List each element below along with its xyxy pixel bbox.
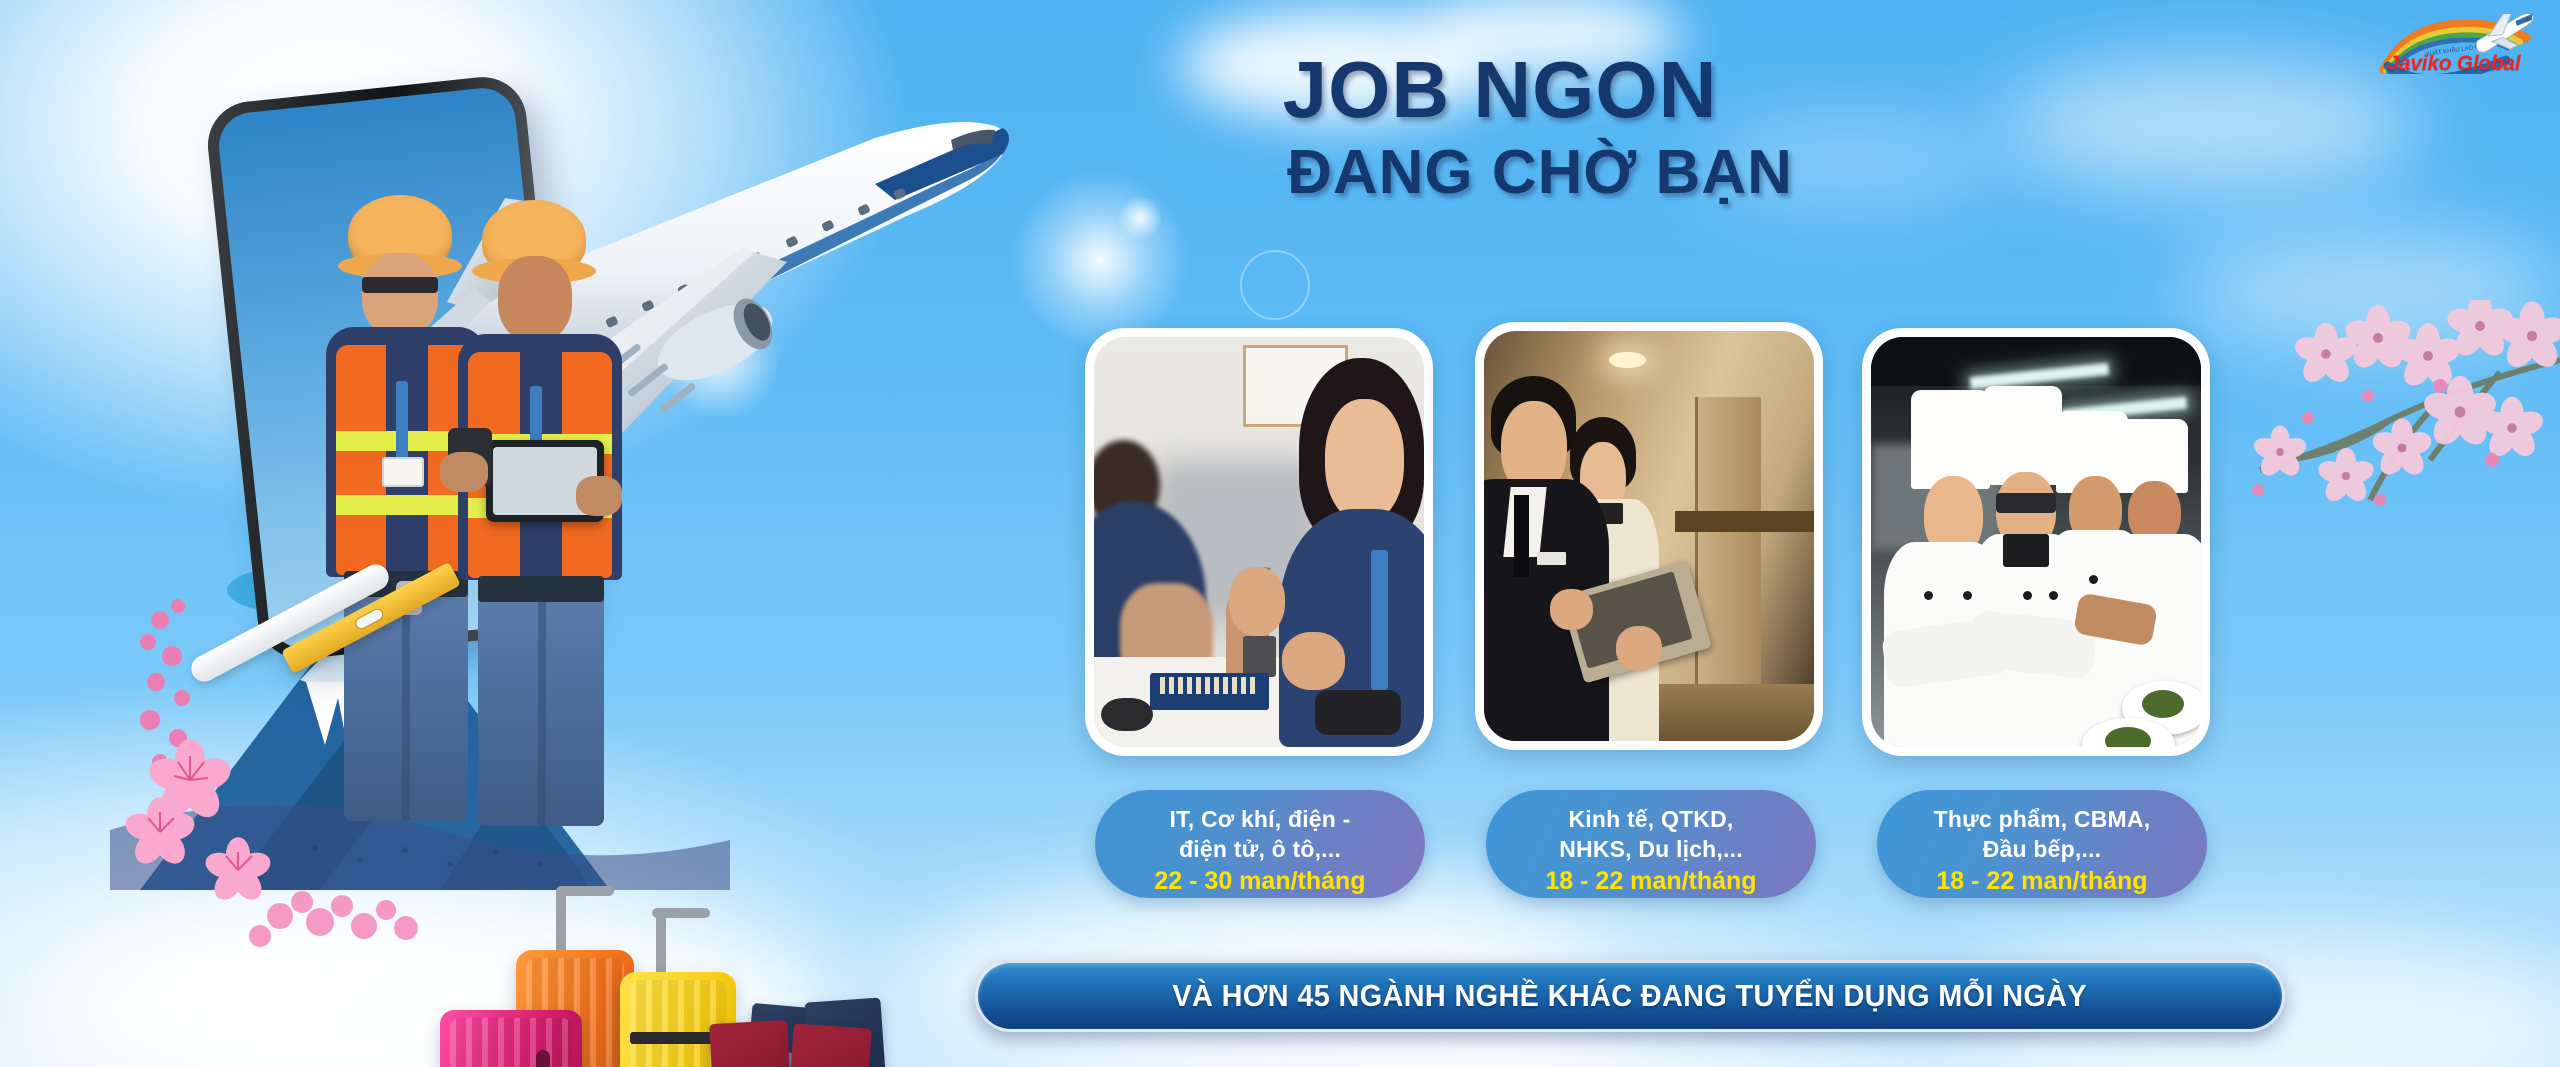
- job-badge-it-mechanical[interactable]: IT, Cơ khí, điện - điện tử, ô tô,... 22 …: [1095, 790, 1425, 898]
- headline-line-2: ĐANG CHỜ BẠN: [1090, 136, 1910, 210]
- headline-block: JOB NGON ĐANG CHỜ BẠN: [1090, 48, 1910, 210]
- promo-banner: JAPAN JAPAN: [0, 0, 2560, 1067]
- photo-scene: [1484, 331, 1814, 741]
- suitcase-handle: [656, 912, 666, 974]
- badge-line-2: NHKS, Du lịch,...: [1496, 834, 1806, 864]
- job-badge-food-chef[interactable]: Thực phẩm, CBMA, Đầu bếp,... 18 - 22 man…: [1877, 790, 2207, 898]
- lens-flare: [1240, 250, 1310, 320]
- badge-line-1: Kinh tế, QTKD,: [1496, 804, 1806, 834]
- left-illustration: JAPAN JAPAN: [0, 0, 1060, 1067]
- belt-icon: [478, 576, 604, 602]
- cloud-decoration: [2000, 60, 2420, 190]
- brand-logo[interactable]: XUẤT KHẨU LAO ĐỘNG Javiko Global: [2366, 14, 2542, 92]
- badge-line-2: Đầu bếp,...: [1887, 834, 2197, 864]
- suitcase-handle: [652, 908, 710, 918]
- job-card-economics-hotel[interactable]: [1475, 322, 1823, 750]
- electronics-technician-photo: [1094, 337, 1424, 747]
- badge-line-2: điện tử, ô tô,...: [1105, 834, 1415, 864]
- photo-scene: [1871, 337, 2201, 747]
- logo-text: Javiko Global: [2366, 52, 2542, 76]
- japan-passport-icon: JAPAN: [709, 1020, 793, 1067]
- badge-line-1: Thực phẩm, CBMA,: [1887, 804, 2197, 834]
- photo-scene: [1094, 337, 1424, 747]
- bottom-cta-text: VÀ HƠN 45 NGÀNH NGHỀ KHÁC ĐANG TUYỂN DỤN…: [1173, 978, 2088, 1014]
- badge-line-1: IT, Cơ khí, điện -: [1105, 804, 1415, 834]
- japan-passport-icon: JAPAN: [786, 1023, 871, 1067]
- id-card-icon: [382, 457, 424, 487]
- suitcase-handle: [556, 886, 614, 896]
- job-badge-economics-hotel[interactable]: Kinh tế, QTKD, NHKS, Du lịch,... 18 - 22…: [1486, 790, 1816, 898]
- badge-salary: 22 - 30 man/tháng: [1105, 865, 1415, 897]
- hotel-staff-photo: [1484, 331, 1814, 741]
- badge-salary: 18 - 22 man/tháng: [1496, 865, 1806, 897]
- badge-salary: 18 - 22 man/tháng: [1887, 865, 2197, 897]
- suitcase-handle: [556, 890, 566, 954]
- construction-worker-right: [430, 200, 640, 830]
- glasses-icon: [1996, 493, 2055, 514]
- bottom-cta-bar[interactable]: VÀ HƠN 45 NGÀNH NGHỀ KHÁC ĐANG TUYỂN DỤN…: [975, 960, 2285, 1032]
- cherry-blossom-icon: [120, 580, 440, 1000]
- job-card-food-chef[interactable]: [1862, 328, 2210, 756]
- chef-team-photo: [1871, 337, 2201, 747]
- pink-suitcase-icon: [440, 1010, 582, 1067]
- headline-line-1: JOB NGON: [1090, 48, 1910, 132]
- job-card-it-mechanical[interactable]: [1085, 328, 1433, 756]
- glasses-icon: [362, 277, 438, 293]
